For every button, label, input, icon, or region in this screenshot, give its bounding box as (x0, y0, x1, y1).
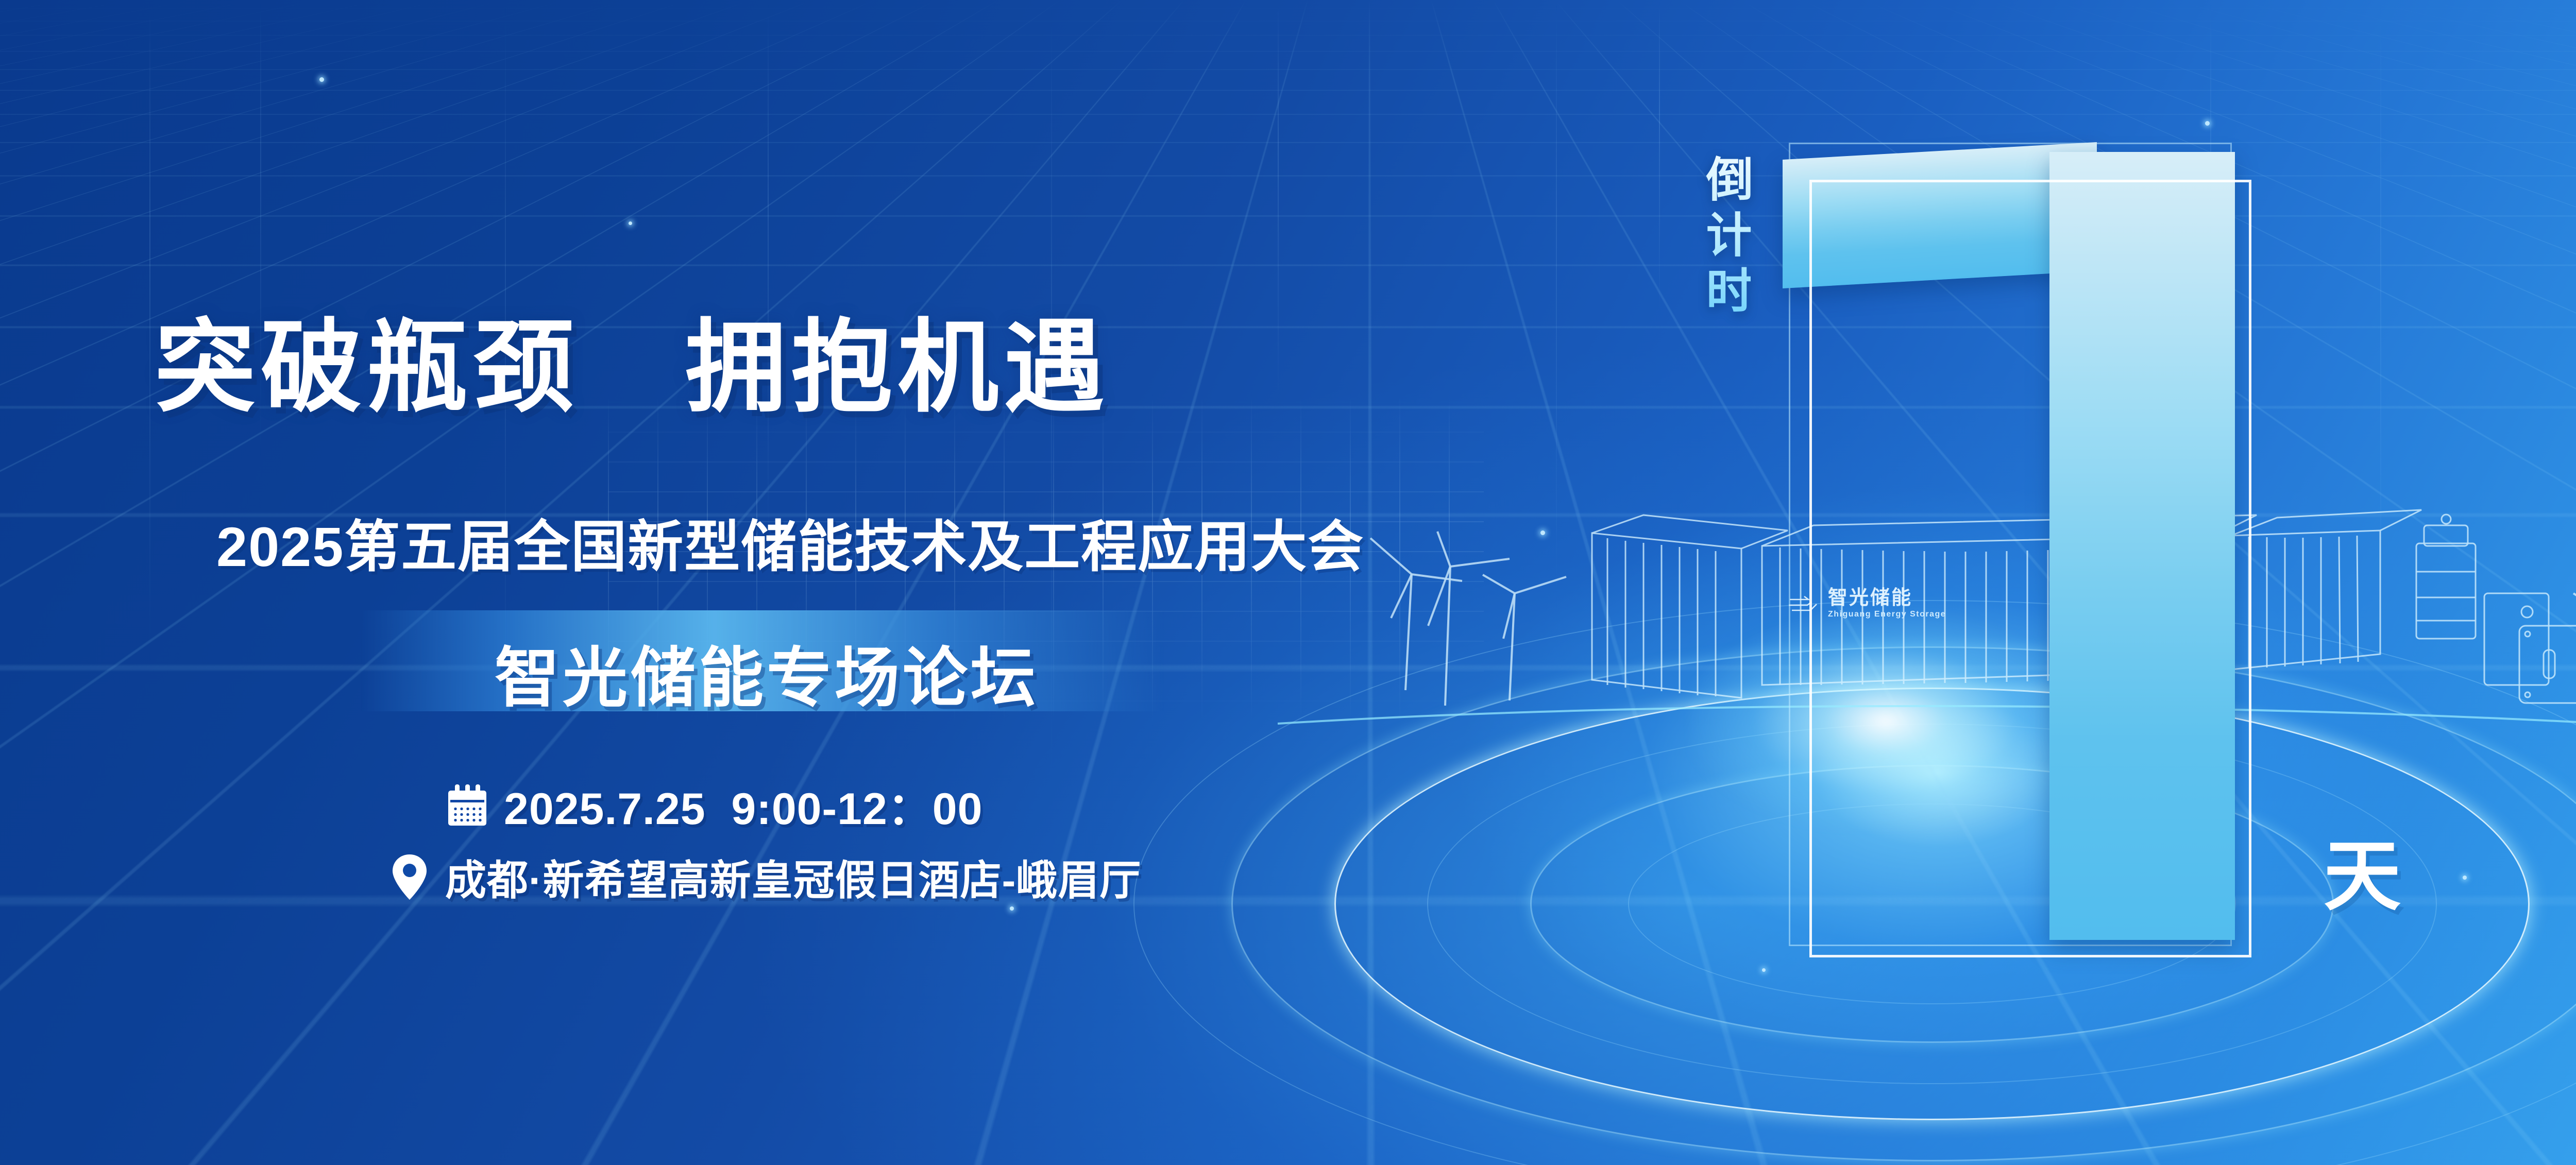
countdown-number (1777, 131, 2241, 961)
event-venue-text: 成都·新希望高新皇冠假日酒店-峨眉厅 (445, 847, 1141, 907)
promo-banner: 智光储能 Zhiguang Energy Storage 倒计时 天 突破瓶颈 … (0, 0, 2576, 1165)
event-venue-row: 成都·新希望高新皇冠假日酒店-峨眉厅 (392, 847, 1141, 907)
event-date-text: 2025.7.25 9:00-12：00 (504, 773, 982, 837)
conference-subtitle: 2025第五届全国新型储能技术及工程应用大会 (216, 502, 1364, 582)
countdown-unit: 天 (2324, 814, 2401, 926)
numeral-white-outline (1809, 180, 2251, 957)
page-title: 突破瓶颈 拥抱机遇 (155, 286, 1110, 432)
calendar-icon (448, 784, 486, 826)
forum-title: 智光储能专场论坛 (495, 626, 1039, 719)
location-pin-icon (392, 853, 428, 901)
countdown-label: 倒计时 (1684, 155, 1751, 321)
event-date-row: 2025.7.25 9:00-12：00 (448, 773, 982, 837)
